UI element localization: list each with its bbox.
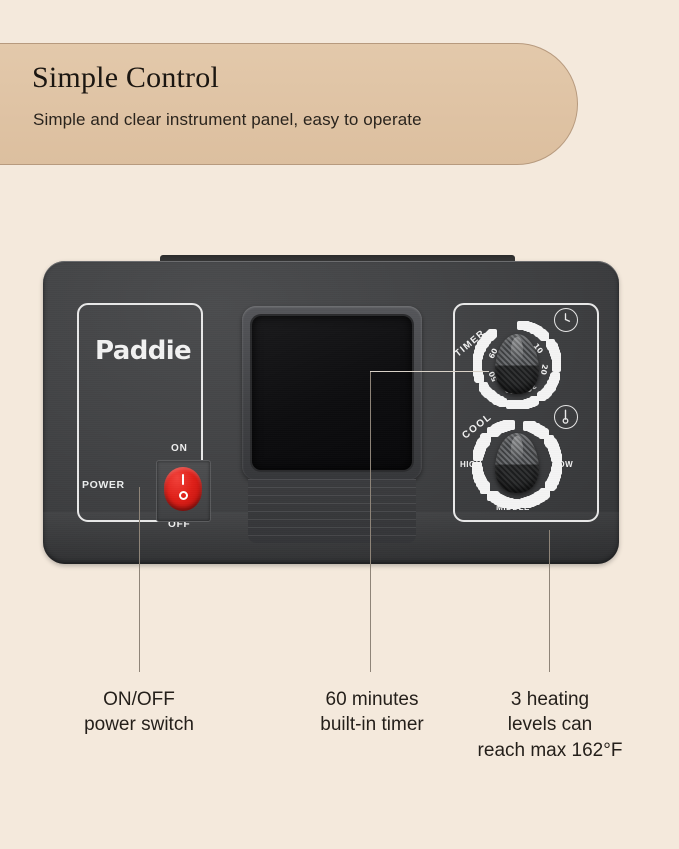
dial-segment xyxy=(488,329,497,338)
caption-timer-line-2: built-in timer xyxy=(277,712,467,737)
temperature-knob-group[interactable]: COOL HIGHLOWMIDDLE xyxy=(466,413,568,515)
power-on-symbol-icon xyxy=(182,474,184,485)
dial-segment xyxy=(479,382,488,391)
power-switch[interactable] xyxy=(164,467,202,511)
caption-heating: 3 heating levels can reach max 162°F xyxy=(452,687,648,763)
caption-power-line-2: power switch xyxy=(44,712,234,737)
caption-heat-line-1: 3 heating xyxy=(452,687,648,712)
caption-heat-line-2: levels can xyxy=(452,712,648,737)
display-screen xyxy=(252,316,412,470)
display-bezel xyxy=(242,306,422,480)
power-label: POWER xyxy=(82,479,125,491)
dial-segment xyxy=(506,400,515,409)
callout-line-heat xyxy=(549,530,550,672)
temp-label-high: HIGH xyxy=(460,460,482,469)
temperature-knob[interactable] xyxy=(495,433,539,493)
power-on-label: ON xyxy=(171,443,188,454)
caption-power-switch: ON/OFF power switch xyxy=(44,687,234,738)
caption-heat-line-3: reach max 162°F xyxy=(452,738,648,763)
caption-power-line-1: ON/OFF xyxy=(44,687,234,712)
dial-segment xyxy=(505,420,515,430)
caption-timer-line-1: 60 minutes xyxy=(277,687,467,712)
callout-line-power xyxy=(139,487,140,672)
vent-grille xyxy=(248,479,416,543)
callout-line-timer xyxy=(370,371,371,672)
clock-icon xyxy=(554,308,578,332)
temp-label-low: LOW xyxy=(553,460,573,469)
callout-line-timer-arm xyxy=(370,371,489,372)
temp-label-middle: MIDDLE xyxy=(496,503,530,512)
dial-segment xyxy=(552,363,561,372)
timer-knob[interactable] xyxy=(495,334,539,394)
caption-timer: 60 minutes built-in timer xyxy=(277,687,467,738)
brand-logo: Paddie xyxy=(95,336,191,366)
thermometer-icon xyxy=(554,405,578,429)
timer-tick-20: 20 xyxy=(538,364,549,376)
timer-knob-group[interactable]: TIMER 0102030405060 xyxy=(466,314,568,416)
power-off-symbol-icon xyxy=(179,491,188,500)
control-panel: Paddie POWER ON OFF TIMER 0102030405 xyxy=(43,261,619,564)
